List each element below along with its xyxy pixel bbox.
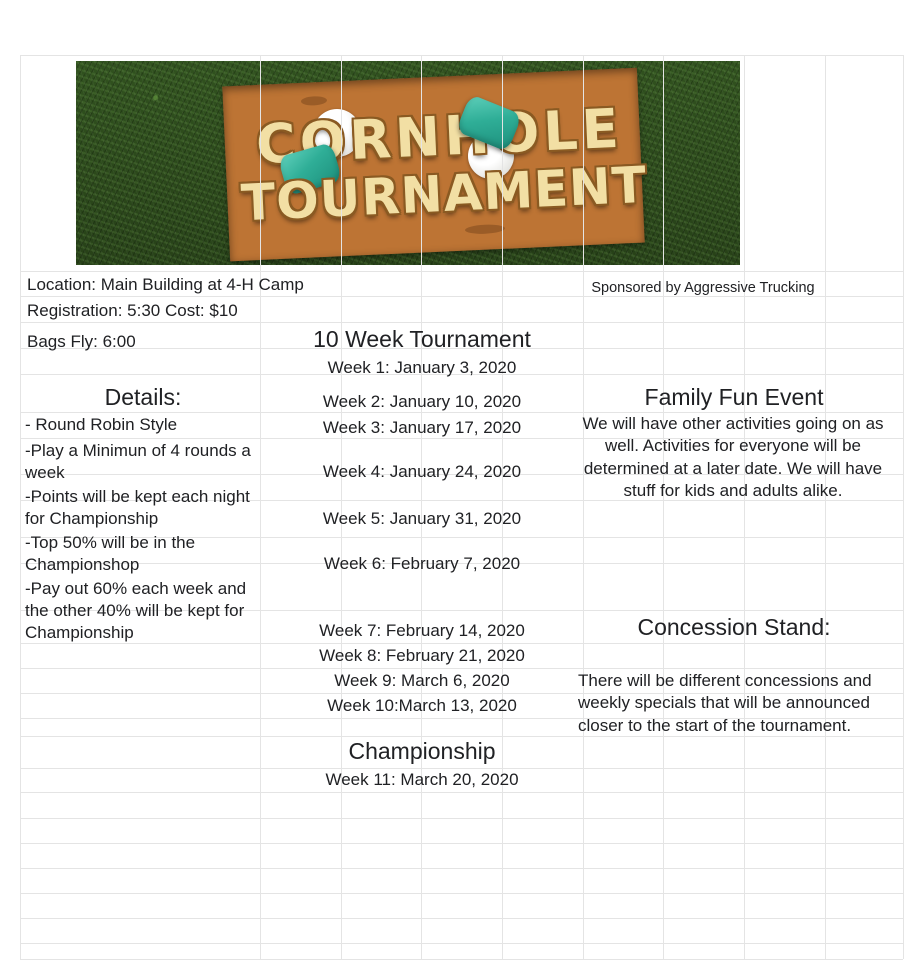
grid-column-line (825, 55, 826, 959)
cell-concession-heading[interactable]: Concession Stand: (584, 613, 884, 642)
cell-week-row[interactable]: Week 2: January 10, 2020 (262, 391, 582, 413)
spreadsheet-canvas: CORNHOLE TOURNAMENT Location: Main Build… (0, 0, 904, 960)
grid-row-line (20, 943, 903, 944)
cell-family-fun-heading[interactable]: Family Fun Event (584, 383, 884, 412)
cell-registration-cost[interactable]: Registration: 5:30 Cost: $10 (27, 300, 447, 322)
cell-championship-week[interactable]: Week 11: March 20, 2020 (262, 769, 582, 791)
cell-week-row[interactable]: Week 10:March 13, 2020 (262, 695, 582, 717)
cell-family-fun-body[interactable]: We will have other activities going on a… (578, 413, 888, 502)
cell-sponsor[interactable]: Sponsored by Aggressive Trucking (583, 279, 823, 298)
grid-row-line (20, 918, 903, 919)
grid-column-line (663, 55, 664, 959)
grid-row-line (20, 668, 903, 669)
cell-week-row[interactable]: Week 4: January 24, 2020 (262, 461, 582, 483)
cell-bags-fly[interactable]: Bags Fly: 6:00 (27, 331, 257, 353)
grid-row-line (20, 868, 903, 869)
cell-week-row[interactable]: Week 3: January 17, 2020 (262, 417, 582, 439)
grid-row-line (20, 818, 903, 819)
grid-column-line (502, 55, 503, 959)
cell-week-row[interactable]: Week 5: January 31, 2020 (262, 508, 582, 530)
grid-row-line (20, 55, 903, 56)
wood-knot-icon (465, 224, 505, 235)
grid-row-line (20, 893, 903, 894)
cell-details-heading[interactable]: Details: (26, 383, 260, 412)
grid-column-line (421, 55, 422, 959)
cell-detail-item[interactable]: -Points will be kept each night for Cham… (25, 486, 262, 530)
cell-week-row[interactable]: Week 1: January 3, 2020 (262, 357, 582, 379)
cornhole-tournament-banner-image: CORNHOLE TOURNAMENT (76, 61, 740, 265)
cell-week-row[interactable]: Week 7: February 14, 2020 (262, 620, 582, 642)
grid-column-line (341, 55, 342, 959)
cell-concession-body[interactable]: There will be different concessions and … (578, 670, 883, 737)
cell-detail-item[interactable]: -Top 50% will be in the Championshop (25, 532, 262, 576)
wood-knot-icon (301, 96, 327, 106)
cell-championship-heading[interactable]: Championship (262, 737, 582, 766)
cell-location[interactable]: Location: Main Building at 4-H Camp (27, 274, 487, 296)
cell-schedule-heading[interactable]: 10 Week Tournament (262, 325, 582, 354)
cell-week-row[interactable]: Week 9: March 6, 2020 (262, 670, 582, 692)
grid-row-line (20, 322, 903, 323)
grid-column-line (583, 55, 584, 959)
grid-column-line (20, 55, 21, 959)
grid-row-line (20, 792, 903, 793)
cell-week-row[interactable]: Week 8: February 21, 2020 (262, 645, 582, 667)
grid-row-line (20, 271, 903, 272)
cell-detail-item[interactable]: -Pay out 60% each week and the other 40%… (25, 578, 262, 643)
cell-week-row[interactable]: Week 6: February 7, 2020 (262, 553, 582, 575)
cell-detail-item[interactable]: -Play a Minimun of 4 rounds a week (25, 440, 262, 484)
grid-column-line (744, 55, 745, 959)
cell-detail-item[interactable]: - Round Robin Style (25, 414, 260, 436)
grid-row-line (20, 843, 903, 844)
